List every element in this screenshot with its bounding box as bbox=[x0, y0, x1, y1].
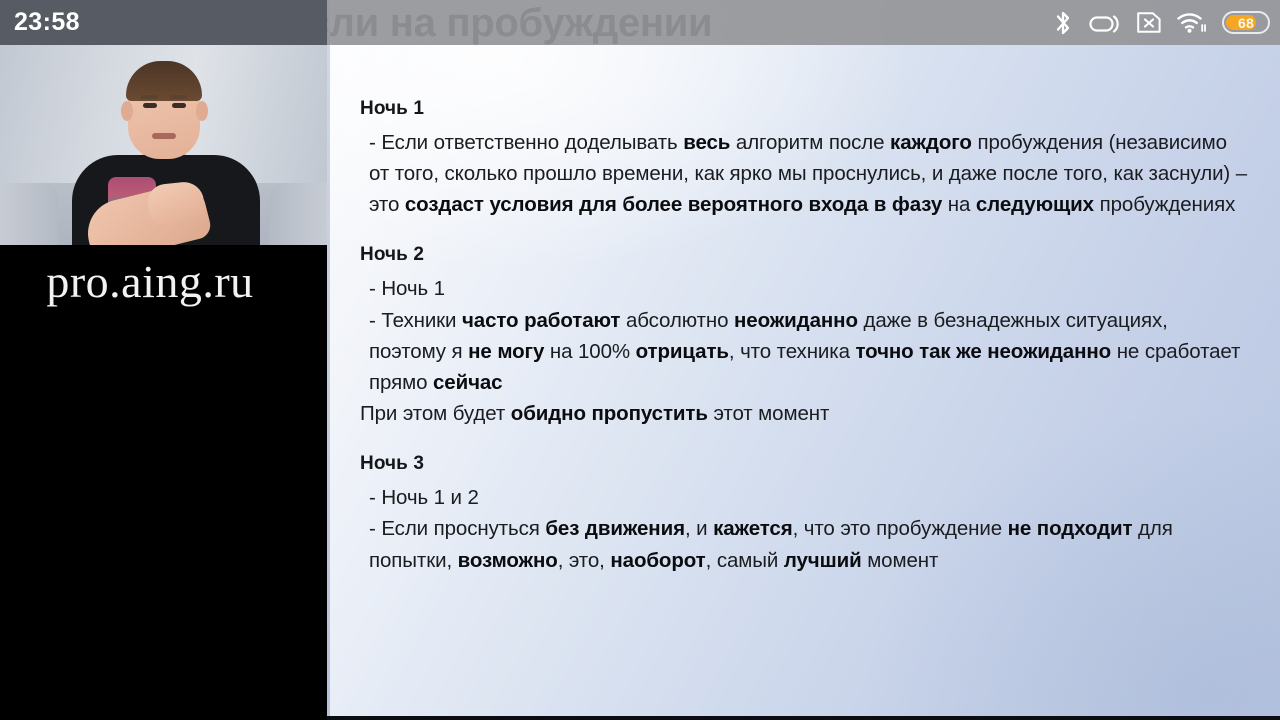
night-block-3: Ночь 3 - Ночь 1 и 2 - Если проснуться бе… bbox=[360, 453, 1250, 575]
night-3-heading: Ночь 3 bbox=[360, 453, 1250, 475]
webcam-person-hand bbox=[146, 180, 206, 226]
text-run-bold: лучший bbox=[784, 549, 862, 572]
text-run-bold: не могу bbox=[468, 340, 544, 363]
text-run: алгоритм после bbox=[730, 131, 890, 154]
text-run: абсолютно bbox=[620, 309, 734, 332]
webcam-person-ear-left bbox=[121, 101, 133, 121]
text-run-bold: точно так же неожиданно bbox=[855, 340, 1111, 363]
text-run: , и bbox=[685, 517, 713, 540]
night-3-line-1: - Ночь 1 и 2 bbox=[360, 482, 1250, 513]
night-block-1: Ночь 1 - Если ответственно доделывать ве… bbox=[360, 98, 1250, 220]
battery-icon: 68 bbox=[1222, 11, 1270, 34]
text-run: на 100% bbox=[544, 340, 635, 363]
webcam-person-brow-right bbox=[170, 95, 187, 99]
battery-level-label: 68 bbox=[1238, 15, 1254, 31]
night-block-2: Ночь 2 - Ночь 1 - Техники часто работают… bbox=[360, 244, 1250, 429]
text-run-bold: отрицать bbox=[636, 340, 729, 363]
slide-left-edge bbox=[327, 0, 330, 720]
webcam-person-ear-right bbox=[196, 101, 208, 121]
night-2-line-1: - Ночь 1 bbox=[360, 273, 1250, 304]
text-run-bold: не подходит bbox=[1008, 517, 1133, 540]
webcam-video bbox=[0, 45, 327, 245]
webcam-couch-right-arm bbox=[269, 183, 327, 245]
text-run: - Если ответственно доделывать bbox=[369, 131, 683, 154]
text-run-bold: сейчас bbox=[433, 371, 503, 394]
text-run-bold: неожиданно bbox=[734, 309, 858, 332]
text-run: , это, bbox=[558, 549, 611, 572]
text-run-bold: наоборот bbox=[610, 549, 705, 572]
webcam-letterbox bbox=[0, 245, 327, 720]
slide-bottom-edge bbox=[327, 716, 1280, 720]
watermark: pro.aing.ru bbox=[0, 255, 300, 308]
no-sim-icon[interactable] bbox=[1136, 11, 1162, 34]
text-run-bold: следующих bbox=[976, 193, 1094, 216]
battery-indicator[interactable]: 68 bbox=[1222, 11, 1270, 34]
bluetooth-icon[interactable] bbox=[1054, 10, 1072, 36]
text-run-bold: возможно bbox=[458, 549, 558, 572]
webcam-person-eye-right bbox=[172, 103, 186, 108]
text-run: , что техника bbox=[729, 340, 856, 363]
status-bar-icons: 68 bbox=[1054, 0, 1270, 45]
text-run-bold: каждого bbox=[890, 131, 972, 154]
night-2-heading: Ночь 2 bbox=[360, 244, 1250, 266]
night-1-heading: Ночь 1 bbox=[360, 98, 1250, 120]
night-1-line-1: - Если ответственно доделывать весь алго… bbox=[360, 127, 1250, 220]
webcam-person-brow-left bbox=[141, 95, 158, 99]
text-run: этот момент bbox=[708, 402, 829, 425]
text-run: - Техники bbox=[369, 309, 462, 332]
slide-body: Ночь 1 - Если ответственно доделывать ве… bbox=[360, 98, 1250, 576]
text-run-bold: создаст условия для более вероятного вхо… bbox=[405, 193, 942, 216]
text-run: пробуждениях bbox=[1094, 193, 1235, 216]
headphones-icon[interactable] bbox=[1087, 11, 1121, 35]
text-run-bold: часто работают bbox=[462, 309, 620, 332]
webcam-person-eye-left bbox=[143, 103, 157, 108]
night-3-line-2: - Если проснуться без движения, и кажетс… bbox=[360, 513, 1250, 575]
text-run: , самый bbox=[706, 549, 784, 572]
webcam-couch-left-arm bbox=[0, 183, 58, 245]
text-run: - Если проснуться bbox=[369, 517, 545, 540]
text-run-bold: без движения bbox=[545, 517, 685, 540]
text-run: на bbox=[942, 193, 976, 216]
text-run: При этом будет bbox=[360, 402, 511, 425]
text-run-bold: обидно пропустить bbox=[511, 402, 708, 425]
webcam-person-mouth bbox=[152, 133, 176, 139]
night-2-line-3: При этом будет обидно пропустить этот мо… bbox=[360, 398, 1250, 429]
status-bar-clock: 23:58 bbox=[14, 8, 80, 37]
text-run-bold: кажется bbox=[713, 517, 793, 540]
text-run: , что это пробуждение bbox=[793, 517, 1008, 540]
screen-root: Ночь 1 - Если ответственно доделывать ве… bbox=[0, 0, 1280, 720]
slide-title: Мысли на пробуждении bbox=[0, 0, 953, 48]
night-2-line-2: - Техники часто работают абсолютно неожи… bbox=[360, 305, 1250, 398]
webcam-panel: pro.aing.ru bbox=[0, 0, 327, 720]
text-run: момент bbox=[862, 549, 939, 572]
presentation-slide: Ночь 1 - Если ответственно доделывать ве… bbox=[327, 0, 1280, 720]
text-run-bold: весь bbox=[683, 131, 730, 154]
wifi-icon[interactable] bbox=[1177, 11, 1207, 35]
